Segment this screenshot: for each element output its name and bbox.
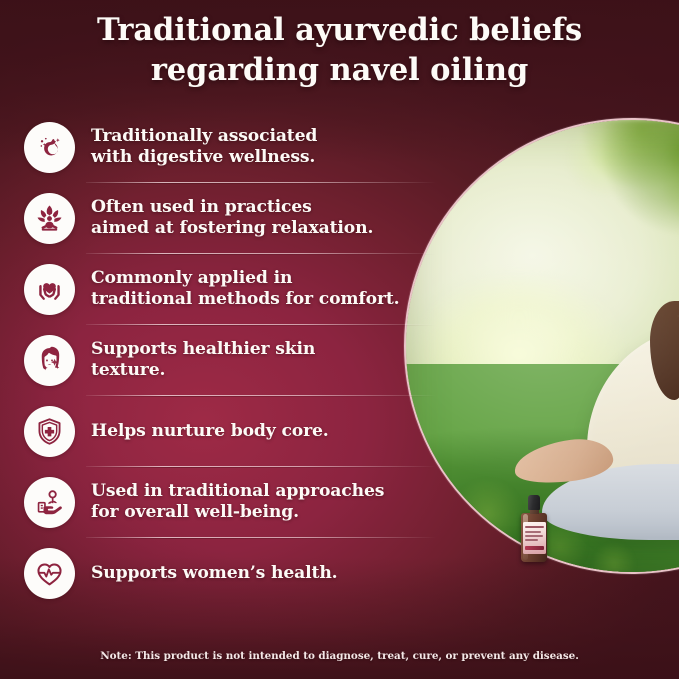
feature-item-text: Traditionally associated with digestive … <box>91 126 317 168</box>
feature-item-well-being: Used in traditional approaches for overa… <box>24 467 454 537</box>
feature-item-text: Helps nurture body core. <box>91 421 329 442</box>
disclaimer-note: Note: This product is not intended to di… <box>0 650 679 662</box>
feature-item-text: Supports healthier skin texture. <box>91 339 315 381</box>
bottle-label-line <box>525 539 538 541</box>
feature-line-2: aimed at fostering relaxation. <box>91 218 373 239</box>
feature-item-text: Supports women’s health. <box>91 563 338 584</box>
hand-plant-bottle-icon <box>24 477 75 528</box>
feature-line-1: Used in traditional approaches <box>91 481 384 502</box>
page-title-line-1: Traditional ayurvedic beliefs <box>0 10 679 50</box>
feature-line-2: traditional methods for comfort. <box>91 289 400 310</box>
page-title: Traditional ayurvedic beliefs regarding … <box>0 10 679 91</box>
meditating-lotus-icon <box>24 193 75 244</box>
bottle-label-line <box>525 535 543 537</box>
feature-item-text: Often used in practices aimed at fosteri… <box>91 197 373 239</box>
bottle-label <box>523 522 546 554</box>
feature-line-1: Commonly applied in <box>91 268 400 289</box>
feature-item-body-core: Helps nurture body core. <box>24 396 454 466</box>
bottle-label-line <box>525 531 541 533</box>
bottle-label-line <box>525 546 544 550</box>
shield-cross-icon <box>24 406 75 457</box>
feature-item-text: Commonly applied in traditional methods … <box>91 268 400 310</box>
feature-line-2: with digestive wellness. <box>91 147 317 168</box>
feature-line-1: Supports women’s health. <box>91 563 338 584</box>
feature-line-1: Helps nurture body core. <box>91 421 329 442</box>
page-title-line-2: regarding navel oiling <box>0 50 679 90</box>
product-dropper-bottle <box>519 495 549 563</box>
heart-in-hands-icon <box>24 264 75 315</box>
feature-list: Traditionally associated with digestive … <box>24 112 454 608</box>
woman-face-sparkle-icon <box>24 335 75 386</box>
feature-line-2: texture. <box>91 360 315 381</box>
feature-item-digestive-wellness: Traditionally associated with digestive … <box>24 112 454 182</box>
infographic-canvas: Traditional ayurvedic beliefs regarding … <box>0 0 679 679</box>
heart-pulse-icon <box>24 548 75 599</box>
bottle-dropper-cap <box>528 495 540 510</box>
feature-item-relaxation: Often used in practices aimed at fosteri… <box>24 183 454 253</box>
feature-line-1: Traditionally associated <box>91 126 317 147</box>
feature-item-womens-health: Supports women’s health. <box>24 538 454 608</box>
stomach-sparkle-icon <box>24 122 75 173</box>
feature-item-text: Used in traditional approaches for overa… <box>91 481 384 523</box>
feature-line-1: Often used in practices <box>91 197 373 218</box>
bottle-label-line <box>525 526 544 528</box>
feature-item-skin-texture: Supports healthier skin texture. <box>24 325 454 395</box>
feature-line-1: Supports healthier skin <box>91 339 315 360</box>
feature-line-2: for overall well-being. <box>91 502 384 523</box>
feature-item-comfort: Commonly applied in traditional methods … <box>24 254 454 324</box>
